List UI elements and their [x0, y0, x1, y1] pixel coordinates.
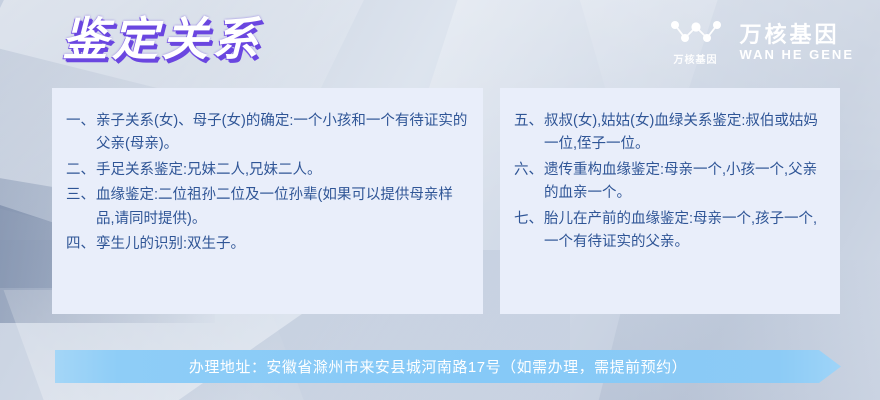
list-item: 一、 亲子关系(女)、母子(女)的确定:一个小孩和一个有待证实的父亲(母亲)。 [66, 110, 469, 157]
list-item: 四、 孪生儿的识别:双生子。 [66, 233, 469, 256]
brand-name-en: WAN HE GENE [740, 48, 854, 62]
list-item: 七、 胎儿在产前的血缘鉴定:母亲一个,孩子一个,一个有待证实的父亲。 [514, 208, 826, 255]
list-item-text: 胎儿在产前的血缘鉴定:母亲一个,孩子一个,一个有待证实的父亲。 [544, 208, 826, 255]
list-item-text: 亲子关系(女)、母子(女)的确定:一个小孩和一个有待证实的父亲(母亲)。 [96, 110, 469, 157]
panel-right: 五、 叔叔(女),姑姑(女)血绿关系鉴定:叔伯或姑妈一位,侄子一位。 六、 遗传… [500, 88, 840, 314]
brand-mark-label: 万核基因 [674, 51, 718, 66]
list-item: 五、 叔叔(女),姑姑(女)血绿关系鉴定:叔伯或姑妈一位,侄子一位。 [514, 110, 826, 157]
content-panels: 一、 亲子关系(女)、母子(女)的确定:一个小孩和一个有待证实的父亲(母亲)。 … [52, 88, 840, 314]
list-item-text: 叔叔(女),姑姑(女)血绿关系鉴定:叔伯或姑妈一位,侄子一位。 [544, 110, 826, 157]
list-item-text: 遗传重构血缘鉴定:母亲一个,小孩一个,父亲的血亲一个。 [544, 159, 826, 206]
panel-left: 一、 亲子关系(女)、母子(女)的确定:一个小孩和一个有待证实的父亲(母亲)。 … [52, 88, 483, 314]
address-text: 办理地址：安徽省滁州市来安县城河南路17号（如需办理，需提前预约） [189, 356, 707, 377]
panel-divider [483, 88, 500, 314]
list-item-number: 一、 [66, 110, 96, 133]
brand-logo: 万核基因 万核基因 WAN HE GENE [668, 18, 854, 66]
brand-text: 万核基因 WAN HE GENE [740, 23, 854, 62]
list-item: 三、 血缘鉴定:二位祖孙二位及一位孙辈(如果可以提供母亲样品,请同时提供)。 [66, 184, 469, 231]
list-item-text: 孪生儿的识别:双生子。 [96, 233, 469, 256]
list-item: 六、 遗传重构血缘鉴定:母亲一个,小孩一个,父亲的血亲一个。 [514, 159, 826, 206]
poster-canvas: 鉴定关系 [0, 0, 880, 400]
brand-name-cn: 万核基因 [740, 23, 854, 46]
molecule-icon [668, 18, 724, 48]
brand-mark: 万核基因 [668, 18, 724, 66]
address-banner: 办理地址：安徽省滁州市来安县城河南路17号（如需办理，需提前预约） [55, 350, 841, 383]
list-item-number: 五、 [514, 110, 544, 133]
list-item-number: 七、 [514, 208, 544, 231]
list-item-text: 血缘鉴定:二位祖孙二位及一位孙辈(如果可以提供母亲样品,请同时提供)。 [96, 184, 469, 231]
list-item-number: 二、 [66, 159, 96, 182]
list-item: 二、 手足关系鉴定:兄妹二人,兄妹二人。 [66, 159, 469, 182]
list-item-number: 六、 [514, 159, 544, 182]
page-title: 鉴定关系 [62, 14, 262, 67]
list-item-number: 四、 [66, 233, 96, 256]
list-item-text: 手足关系鉴定:兄妹二人,兄妹二人。 [96, 159, 469, 182]
list-item-number: 三、 [66, 184, 96, 207]
